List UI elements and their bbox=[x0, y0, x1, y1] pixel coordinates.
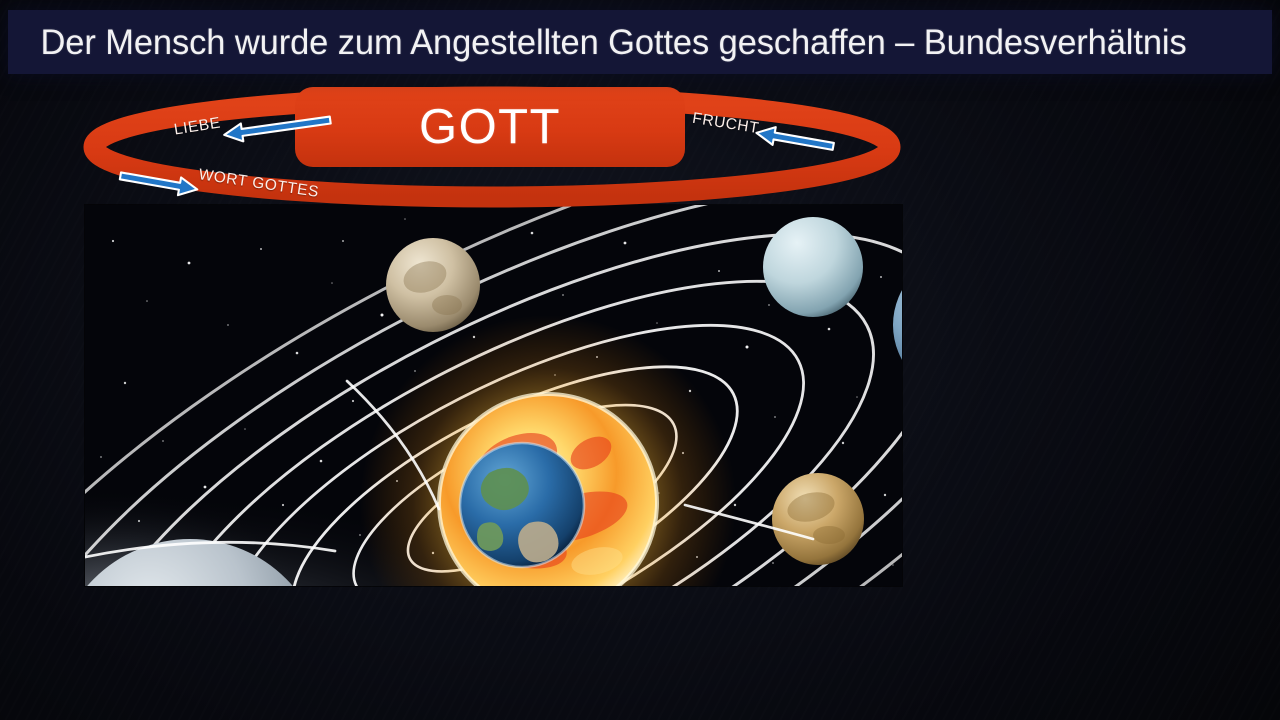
planet-venus bbox=[772, 473, 864, 565]
covenant-cycle-diagram: GOTT LIEBE WORT GOTTES FRUCHT bbox=[80, 82, 910, 212]
solar-system-illustration bbox=[85, 205, 902, 586]
presentation-slide: Der Mensch wurde zum Angestellten Gottes… bbox=[0, 0, 1280, 720]
page-title: Der Mensch wurde zum Angestellten Gottes… bbox=[8, 25, 1187, 60]
slide-title-bar: Der Mensch wurde zum Angestellten Gottes… bbox=[8, 10, 1272, 74]
planet-mercury bbox=[386, 238, 480, 332]
god-box bbox=[295, 87, 685, 167]
planet-earth bbox=[460, 443, 584, 567]
planet-uranus bbox=[763, 217, 863, 317]
